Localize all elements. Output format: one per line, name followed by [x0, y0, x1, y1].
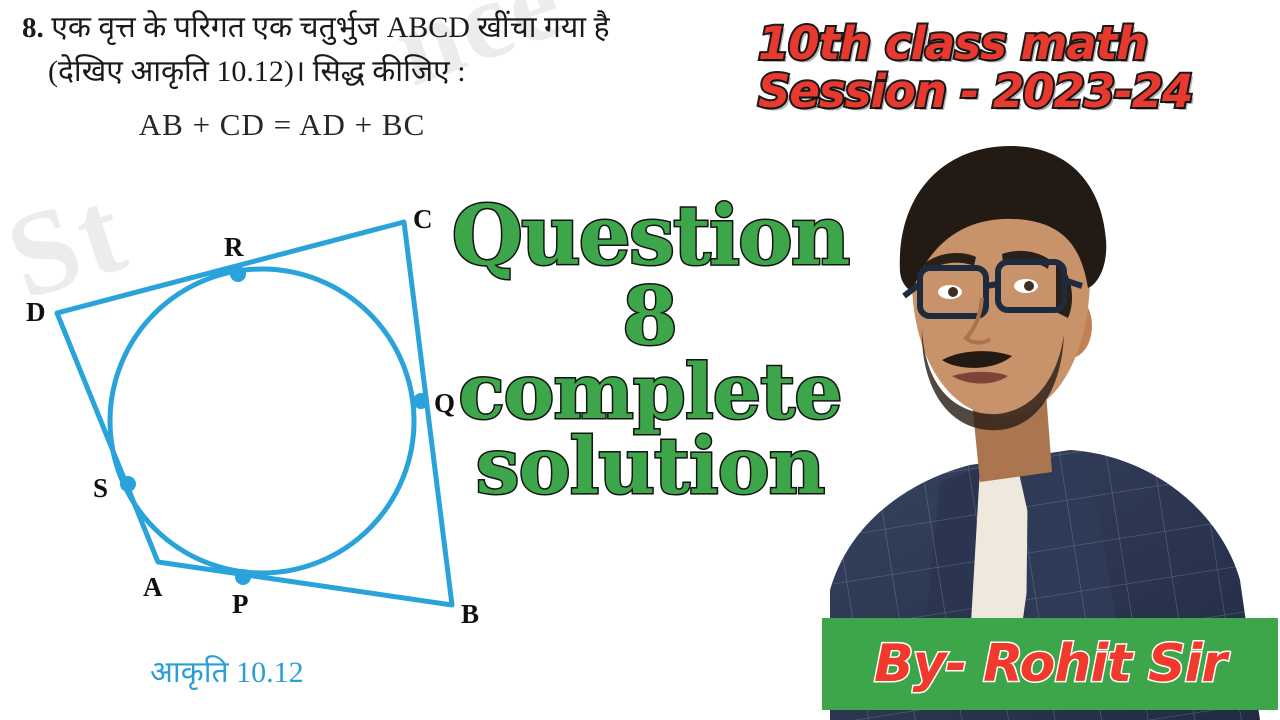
- question-equation: AB + CD = AD + BC: [22, 107, 542, 143]
- vertex-label-b: B: [461, 599, 479, 629]
- green-title-group: Question 8 complete solution: [430, 198, 870, 504]
- tangent-label-p: P: [232, 589, 249, 619]
- question-number: 8.: [22, 12, 44, 44]
- tangent-point-s: [120, 476, 136, 492]
- author-banner: By- Rohit Sir: [822, 618, 1278, 710]
- question-text-line-2: (देखिए आकृति 10.12)। सिद्ध कीजिए :: [22, 50, 782, 94]
- vertex-label-a: A: [143, 572, 163, 602]
- green-word-solution: solution: [430, 430, 870, 504]
- headline-line-2: Session - 2023-24: [758, 70, 1192, 114]
- green-word-number: 8: [430, 278, 870, 354]
- video-thumbnail: St nce 8. एक वृत्त के परिगत एक चतुर्भुज …: [0, 0, 1280, 720]
- inscribed-circle: [110, 269, 414, 573]
- tangent-point-q: [413, 393, 429, 409]
- tangent-point-r: [230, 266, 246, 282]
- question-line-1: 8. एक वृत्त के परिगत एक चतुर्भुज ABCD खी…: [22, 6, 782, 50]
- tangent-point-p: [235, 569, 251, 585]
- headline-line-1: 10th class math: [758, 22, 1192, 66]
- author-label: By- Rohit Sir: [874, 634, 1226, 694]
- question-block: 8. एक वृत्त के परिगत एक चतुर्भुज ABCD खी…: [22, 6, 782, 143]
- figure-caption: आकृति 10.12: [150, 650, 304, 691]
- tangent-label-s: S: [93, 473, 108, 503]
- green-word-question: Question: [430, 198, 870, 276]
- vertex-label-d: D: [26, 297, 46, 327]
- green-word-complete: complete: [430, 356, 870, 428]
- question-text-line-1: एक वृत्त के परिगत एक चतुर्भुज ABCD खींचा…: [51, 11, 609, 44]
- tangent-label-r: R: [224, 232, 244, 262]
- quadrilateral-abcd: [57, 222, 452, 605]
- headline-group: 10th class math Session - 2023-24: [758, 22, 1192, 114]
